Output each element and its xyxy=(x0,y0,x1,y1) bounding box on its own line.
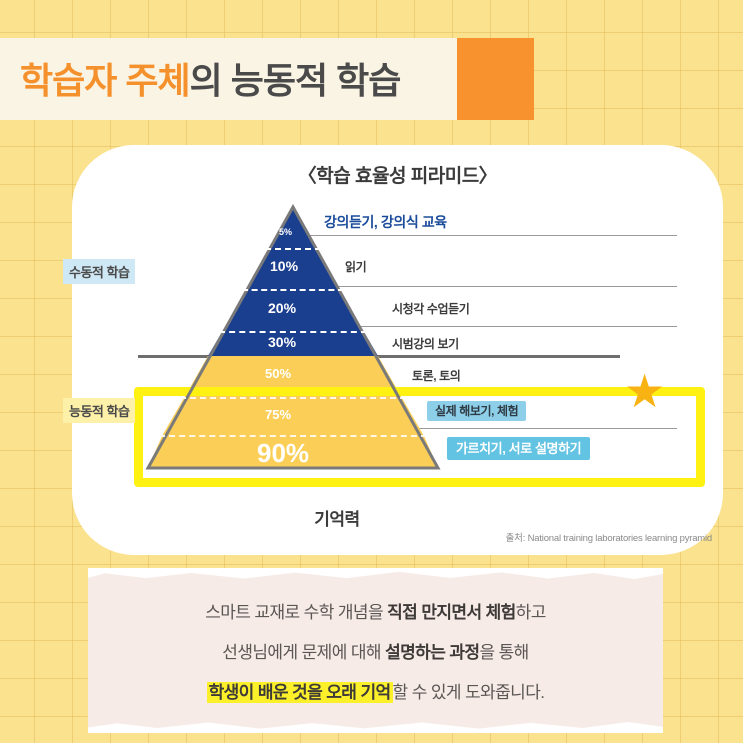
tier-pct-2: 10% xyxy=(72,258,743,274)
summary-line-2-b: 설명하는 과정 xyxy=(385,643,479,662)
summary-line-2-a: 선생님에게 문제에 대해 xyxy=(222,643,385,662)
chart-card: 〈학습 효율성 피라미드〉 ★ xyxy=(72,145,723,555)
dash-5 xyxy=(180,397,406,399)
tier-label-5: 토론, 토의 xyxy=(412,367,460,384)
tier-label-6-text: 실제 해보기, 체험 xyxy=(427,401,526,421)
tier-label-7-text: 가르치기, 서로 설명하기 xyxy=(447,437,590,460)
side-label-active: 능동적 학습 xyxy=(63,398,135,423)
summary-line-1: 스마트 교재로 수학 개념을 직접 만지면서 체험하고 xyxy=(88,598,663,623)
tier-label-6: 실제 해보기, 체험 xyxy=(427,402,526,419)
tier-pct-7: 90% xyxy=(72,438,743,469)
tier-label-4: 시범강의 보기 xyxy=(392,335,459,352)
page-title: 학습자 주체의 능동적 학습 xyxy=(20,52,460,110)
tier-label-1: 강의듣기, 강의식 교육 xyxy=(324,212,447,232)
summary-line-3-rest: 할 수 있게 도와줍니다. xyxy=(393,683,545,702)
summary-line-1-c: 하고 xyxy=(516,603,546,622)
summary-panel: 스마트 교재로 수학 개념을 직접 만지면서 체험하고 선생님에게 문제에 대해… xyxy=(88,568,663,733)
summary-line-3: 학생이 배운 것을 오래 기억할 수 있게 도와줍니다. xyxy=(88,678,663,703)
star-icon: ★ xyxy=(624,368,670,414)
torn-edge-top xyxy=(88,568,663,579)
tier-label-3: 시청각 수업듣기 xyxy=(392,300,469,317)
summary-line-1-b: 직접 만지면서 체험 xyxy=(387,603,516,622)
dash-2 xyxy=(242,289,344,291)
infographic-page: 학습자 주체의 능동적 학습 〈학습 효율성 피라미드〉 ★ xyxy=(0,0,743,743)
dash-6 xyxy=(159,435,427,437)
axis-label-memory: 기억력 xyxy=(247,505,427,530)
page-title-accent: 학습자 주체 xyxy=(20,60,190,101)
summary-line-1-a: 스마트 교재로 수학 개념을 xyxy=(205,603,387,622)
summary-line-3-highlight: 학생이 배운 것을 오래 기억 xyxy=(207,682,393,703)
torn-edge-bottom xyxy=(88,722,663,733)
dash-3 xyxy=(219,331,367,333)
page-title-rest: 의 능동적 학습 xyxy=(190,60,401,101)
pyramid-chart: ★ xyxy=(72,145,723,555)
chart-source: 출처: National training laboratories learn… xyxy=(402,530,712,544)
emphasis-box xyxy=(134,387,705,487)
tier-label-7: 가르치기, 서로 설명하기 xyxy=(447,438,590,457)
side-label-passive: 수동적 학습 xyxy=(63,259,135,284)
tier-label-2: 읽기 xyxy=(345,258,366,275)
dash-1 xyxy=(265,248,321,250)
header-orange-block xyxy=(457,38,534,120)
summary-line-2: 선생님에게 문제에 대해 설명하는 과정을 통해 xyxy=(88,638,663,663)
summary-line-2-c: 을 통해 xyxy=(479,643,528,662)
